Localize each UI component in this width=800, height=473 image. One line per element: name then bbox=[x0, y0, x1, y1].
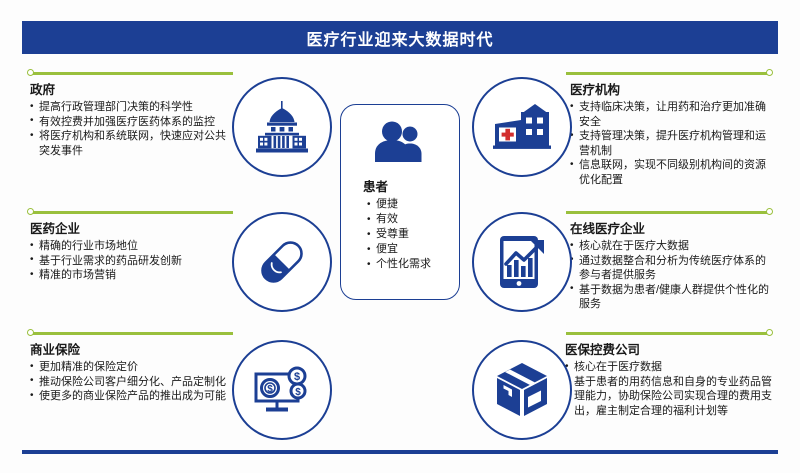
block-bullet-list: 提高行政管理部门决策的科学性 有效控费并加强医疗医药体系的监控 将医疗机构和系统… bbox=[30, 100, 230, 158]
bottom-divider bbox=[22, 450, 778, 454]
list-item: 基于患者的用药信息和自身的专业药品管理能力，协助保险公司实现合理的费用支出，雇主… bbox=[565, 375, 777, 419]
list-item: 支持管理决策，提升医疗机构管理和运营机制 bbox=[570, 129, 775, 158]
slide-title-bar: 医疗行业迎来大数据时代 bbox=[22, 21, 778, 54]
svg-text:$: $ bbox=[295, 387, 301, 398]
block-bullet-list: 核心在于医疗数据 基于患者的用药信息和自身的专业药品管理能力，协助保险公司实现合… bbox=[565, 360, 777, 418]
connector-line-insurance-control bbox=[566, 332, 772, 335]
connector-dot bbox=[766, 329, 773, 336]
list-item: 信息联网，实现不同级别机构间的资源优化配置 bbox=[570, 158, 775, 187]
icon-circle-monitor-money[interactable]: $ $ $ bbox=[232, 340, 332, 440]
center-card-patient[interactable]: 患者 便捷 有效 受尊重 便宜 个性化需求 bbox=[340, 104, 460, 300]
list-item: 有效 bbox=[367, 212, 431, 227]
monitor-money-icon: $ $ $ bbox=[252, 364, 312, 416]
info-block-medical-institution: 医疗机构 支持临床决策，让用药和治疗更加准确安全 支持管理决策，提升医疗机构管理… bbox=[570, 82, 775, 187]
connector-dot bbox=[27, 329, 34, 336]
list-item: 更加精准的保险定价 bbox=[30, 360, 230, 375]
svg-text:$: $ bbox=[267, 384, 273, 395]
connector-dot bbox=[27, 208, 34, 215]
list-item: 提高行政管理部门决策的科学性 bbox=[30, 100, 230, 115]
slide-canvas: 医疗行业迎来大数据时代 政府 提高行政管理部门决策的科学性 有效控费并加强医疗医… bbox=[0, 0, 800, 473]
icon-circle-hospital[interactable] bbox=[472, 77, 572, 177]
info-block-government: 政府 提高行政管理部门决策的科学性 有效控费并加强医疗医药体系的监控 将医疗机构… bbox=[30, 82, 230, 158]
info-block-online-medical: 在线医疗企业 核心就在于医疗大数据 通过数据整合和分析为传统医疗体系的参与者提供… bbox=[570, 221, 775, 312]
svg-text:$: $ bbox=[294, 371, 300, 383]
block-bullet-list: 支持临床决策，让用药和治疗更加准确安全 支持管理决策，提升医疗机构管理和运营机制… bbox=[570, 100, 775, 187]
list-item: 个性化需求 bbox=[367, 257, 431, 272]
tablet-chart-icon bbox=[493, 233, 551, 291]
info-block-pharma: 医药企业 精确的行业市场地位 基于行业需求的药品研发创新 精准的市场营销 bbox=[30, 221, 230, 283]
connector-line-pharma bbox=[28, 211, 233, 214]
block-heading: 医疗机构 bbox=[570, 82, 775, 98]
list-item: 推动保险公司客户细分化、产品定制化 bbox=[30, 375, 230, 390]
page-title: 医疗行业迎来大数据时代 bbox=[306, 26, 493, 50]
block-bullet-list: 核心就在于医疗大数据 通过数据整合和分析为传统医疗体系的参与者提供服务 基于数据… bbox=[570, 239, 775, 312]
people-icon bbox=[372, 121, 428, 168]
center-bullet-list: 便捷 有效 受尊重 便宜 个性化需求 bbox=[367, 197, 431, 272]
block-heading: 政府 bbox=[30, 82, 230, 98]
list-item: 使更多的商业保险产品的推出成为可能 bbox=[30, 389, 230, 404]
list-item: 有效控费并加强医疗医药体系的监控 bbox=[30, 115, 230, 130]
list-item: 便捷 bbox=[367, 197, 431, 212]
connector-line-medical-institution bbox=[566, 72, 772, 75]
package-box-icon bbox=[494, 361, 550, 419]
icon-circle-capsule[interactable] bbox=[232, 212, 332, 312]
block-bullet-list: 精确的行业市场地位 基于行业需求的药品研发创新 精准的市场营销 bbox=[30, 239, 230, 283]
block-heading: 医药企业 bbox=[30, 221, 230, 237]
list-item: 受尊重 bbox=[367, 227, 431, 242]
block-heading: 在线医疗企业 bbox=[570, 221, 775, 237]
list-item: 核心在于医疗数据 bbox=[565, 360, 777, 375]
block-heading: 商业保险 bbox=[30, 342, 230, 358]
list-item: 精准的市场营销 bbox=[30, 268, 230, 283]
block-bullet-list: 更加精准的保险定价 推动保险公司客户细分化、产品定制化 使更多的商业保险产品的推… bbox=[30, 360, 230, 404]
government-building-icon bbox=[254, 101, 310, 153]
capsule-pill-icon bbox=[253, 233, 311, 291]
list-item: 将医疗机构和系统联网，快速应对公共突发事件 bbox=[30, 129, 230, 158]
list-item: 通过数据整合和分析为传统医疗体系的参与者提供服务 bbox=[570, 254, 775, 283]
connector-line-government bbox=[28, 72, 233, 75]
connector-dot bbox=[27, 69, 34, 76]
connector-line-online-medical bbox=[566, 211, 772, 214]
list-item: 基于数据为患者/健康人群提供个性化的服务 bbox=[570, 283, 775, 312]
list-item: 基于行业需求的药品研发创新 bbox=[30, 254, 230, 269]
center-heading: 患者 bbox=[363, 176, 388, 195]
list-item: 精确的行业市场地位 bbox=[30, 239, 230, 254]
connector-dot bbox=[766, 208, 773, 215]
list-item: 核心就在于医疗大数据 bbox=[570, 239, 775, 254]
icon-circle-government[interactable] bbox=[232, 77, 332, 177]
icon-circle-tablet-chart[interactable] bbox=[472, 212, 572, 312]
info-block-commercial-insurance: 商业保险 更加精准的保险定价 推动保险公司客户细分化、产品定制化 使更多的商业保… bbox=[30, 342, 230, 404]
list-item: 便宜 bbox=[367, 242, 431, 257]
list-item: 支持临床决策，让用药和治疗更加准确安全 bbox=[570, 100, 775, 129]
info-block-insurance-control: 医保控费公司 核心在于医疗数据 基于患者的用药信息和自身的专业药品管理能力，协助… bbox=[565, 342, 777, 418]
icon-circle-package[interactable] bbox=[472, 340, 572, 440]
block-heading: 医保控费公司 bbox=[565, 342, 777, 358]
connector-dot bbox=[766, 69, 773, 76]
connector-line-commercial-insurance bbox=[28, 332, 233, 335]
hospital-icon bbox=[491, 102, 553, 152]
